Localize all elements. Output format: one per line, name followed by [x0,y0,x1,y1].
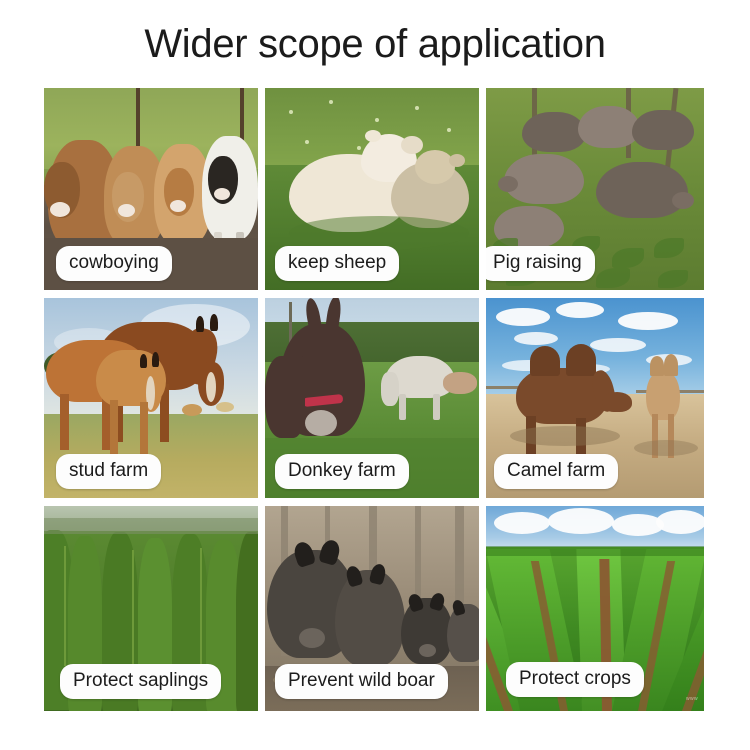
grid-cell-cowboying[interactable]: cowboying [44,88,258,290]
grid-cell-protect-crops[interactable]: www Protect crops [486,506,704,711]
cell-label-pig-raising: Pig raising [486,246,595,281]
cell-label-protect-crops: Protect crops [506,662,644,697]
grid-cell-keep-sheep[interactable]: keep sheep [265,88,479,290]
application-grid: cowboying [44,88,706,713]
page-title: Wider scope of application [0,22,750,67]
cell-label-protect-saplings: Protect saplings [60,664,221,699]
image-watermark: www [686,696,698,702]
application-scope-poster: Wider scope of application [0,0,750,750]
cell-label-prevent-wild-boar: Prevent wild boar [275,664,448,699]
grid-cell-pig-raising[interactable]: Pig raising [486,88,704,290]
grid-cell-donkey-farm[interactable]: Donkey farm [265,298,479,498]
grid-cell-camel-farm[interactable]: Camel farm [486,298,704,498]
cell-label-donkey-farm: Donkey farm [275,454,409,489]
cell-label-camel-farm: Camel farm [494,454,618,489]
cell-label-stud-farm: stud farm [56,454,161,489]
grid-cell-prevent-wild-boar[interactable]: Prevent wild boar [265,506,479,711]
cell-label-cowboying: cowboying [56,246,172,281]
cell-label-keep-sheep: keep sheep [275,246,399,281]
grid-cell-stud-farm[interactable]: stud farm [44,298,258,498]
grid-cell-protect-saplings[interactable]: Protect saplings [44,506,258,711]
